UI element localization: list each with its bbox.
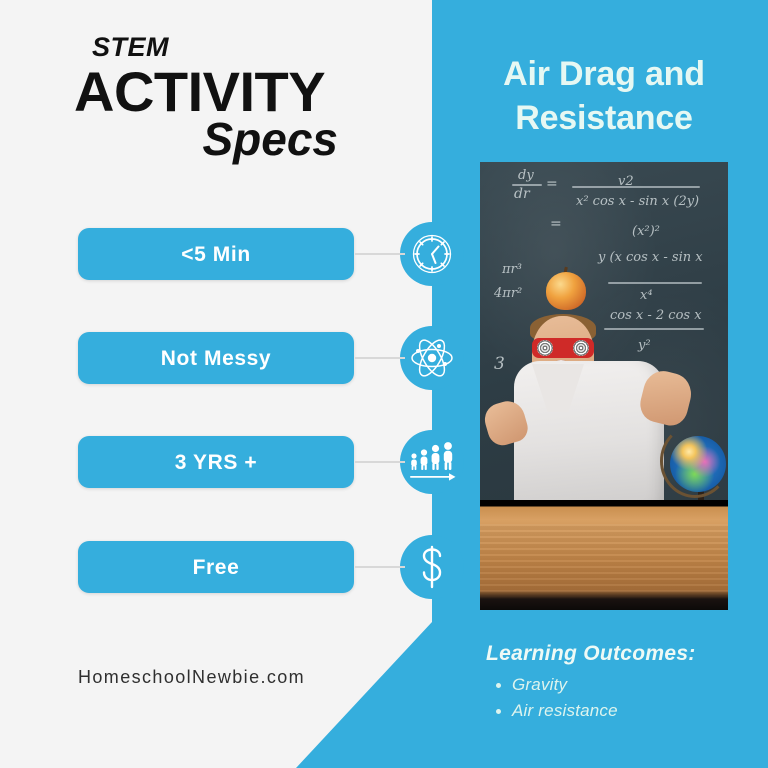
page-title: STEM ACTIVITY Specs	[74, 34, 342, 162]
spec-pill-messiness[interactable]: Not Messy	[78, 332, 354, 384]
chalk-fraction-bar-3	[608, 282, 702, 284]
goggle-lens-left	[537, 340, 553, 356]
chalk-text-eq-1: =	[546, 176, 558, 192]
scientist-lab-coat	[514, 361, 664, 506]
chalk-text-eq-2: =	[550, 216, 562, 232]
spec-pill-cost[interactable]: Free	[78, 541, 354, 593]
chalk-text-dr: dr	[514, 186, 530, 202]
list-item: Air resistance	[486, 698, 736, 724]
spec-pill-duration[interactable]: <5 Min	[78, 228, 354, 280]
chalk-text-cos-2cos: cos x - 2 cos x	[610, 308, 702, 323]
chalk-text-dy: dy	[518, 168, 534, 183]
learning-outcomes-title: Learning Outcomes:	[486, 642, 736, 665]
spec-label-cost: Free	[193, 557, 240, 578]
chalk-fraction-bar-4	[604, 328, 704, 330]
site-name: HomeschoolNewbie.com	[78, 667, 305, 688]
chalk-text-y2: y²	[638, 338, 651, 353]
spec-pill-age[interactable]: 3 YRS +	[78, 436, 354, 488]
goggles-icon	[532, 338, 594, 358]
family-ages-icon	[403, 430, 461, 494]
chalk-text-cos-sin: x² cos x - sin x (2y)	[576, 194, 699, 209]
title-line-2: Specs	[74, 116, 342, 162]
apple	[546, 272, 586, 310]
desk-grain	[480, 524, 728, 596]
learning-outcomes: Learning Outcomes: Gravity Air resistanc…	[486, 642, 736, 725]
infographic-canvas: STEM ACTIVITY Specs <5 Min	[0, 0, 768, 768]
chalk-text-pir3: πr³	[502, 262, 522, 277]
spec-label-messiness: Not Messy	[161, 348, 271, 369]
chalk-fraction-bar-2	[572, 186, 700, 188]
chalk-text-x2sq: (x²)²	[632, 224, 660, 239]
activity-title: Air Drag and Resistance	[470, 52, 738, 140]
globe-icon	[670, 436, 726, 492]
spec-label-duration: <5 Min	[181, 244, 251, 265]
activity-photo: dy dr = v2 x² cos x - sin x (2y) = (x²)²…	[480, 162, 728, 610]
spec-connector-duration	[355, 253, 405, 255]
chalk-text-ycosx: y (x cos x - sin x	[598, 250, 703, 265]
atom-icon	[403, 326, 461, 390]
dollar-sign-icon	[403, 535, 461, 599]
goggle-lens-right	[573, 340, 589, 356]
list-item: Gravity	[486, 672, 736, 698]
chalk-text-4pir2: 4πr²	[494, 286, 522, 301]
spec-connector-age	[355, 461, 405, 463]
spec-connector-cost	[355, 566, 405, 568]
learning-outcomes-list: Gravity Air resistance	[486, 672, 736, 725]
chalk-text-3: 3	[494, 354, 505, 374]
title-eyebrow: STEM	[74, 34, 342, 61]
clock-icon	[403, 222, 461, 286]
spec-connector-messiness	[355, 357, 405, 359]
chalk-text-x4: x⁴	[640, 288, 653, 303]
title-line-1: ACTIVITY	[74, 63, 342, 120]
spec-label-age: 3 YRS +	[175, 452, 258, 473]
